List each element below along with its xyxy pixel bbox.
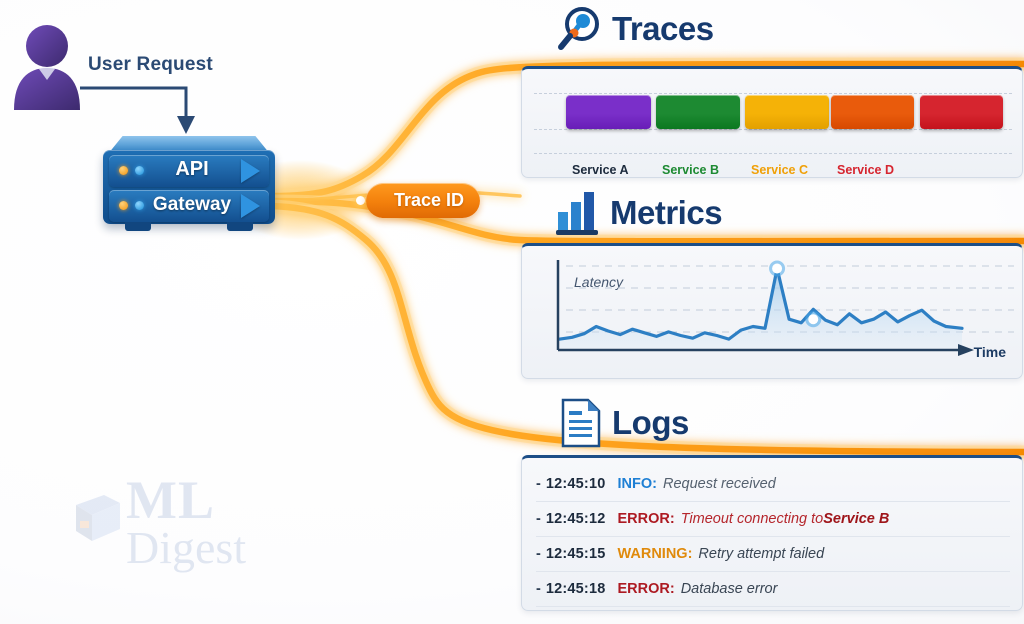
metrics-panel: Latency Time (521, 243, 1023, 379)
watermark-ml-digest: ML Digest (70, 462, 310, 582)
gateway-label-line1: API (103, 152, 275, 187)
gateway-foot (227, 222, 253, 231)
log-entry-row[interactable]: -12:45:15WARNING:Retry attempt failed (536, 536, 1010, 572)
chart-area-fill (560, 269, 962, 351)
log-level-badge: ERROR: (618, 581, 675, 597)
trace-span-label: Service D (837, 163, 894, 177)
log-entry-row[interactable]: -12:45:10INFO:Request received (536, 466, 1010, 502)
traces-section-header: Traces (556, 6, 714, 52)
request-arrow-icon (78, 60, 208, 140)
api-gateway-node[interactable]: API Gateway (103, 136, 275, 232)
log-dash: - (536, 546, 541, 562)
trace-id-label: Trace ID (382, 190, 464, 211)
recovery-marker (808, 314, 818, 324)
trace-span-bar (566, 95, 651, 129)
diagram-canvas: ML Digest (0, 0, 1024, 624)
gateway-label-line2: Gateway (103, 187, 275, 222)
logs-panel: -12:45:10INFO:Request received-12:45:12E… (521, 455, 1023, 611)
latency-line-chart (522, 246, 1022, 378)
traces-panel: Service AService BService CService D (521, 66, 1023, 178)
log-dash: - (536, 581, 541, 597)
traces-title: Traces (612, 10, 714, 48)
trace-span-bar (745, 95, 829, 129)
book-icon (70, 491, 126, 553)
log-entry-row[interactable]: -12:45:12ERROR:Timeout connecting to Ser… (536, 501, 1010, 537)
trace-span-label: Service B (662, 163, 719, 177)
log-level-badge: INFO: (618, 476, 657, 492)
log-message-emphasis: Service B (823, 511, 889, 527)
trace-span-label: Service A (572, 163, 629, 177)
trace-gridline (534, 153, 1012, 154)
trace-span-bar (656, 95, 740, 129)
document-lines-icon (560, 398, 602, 448)
trace-gridline (534, 93, 1012, 94)
trace-span-bar (920, 95, 1003, 129)
watermark-line2: Digest (126, 526, 246, 570)
x-axis-arrow-icon (958, 344, 974, 356)
log-timestamp: 12:45:15 (546, 546, 606, 562)
log-message: Request received (663, 476, 776, 492)
trace-id-connector-dot (356, 196, 365, 205)
logs-title: Logs (612, 404, 689, 442)
log-message: Timeout connecting to (681, 511, 824, 527)
log-message: Retry attempt failed (698, 546, 824, 562)
metrics-title: Metrics (610, 194, 722, 232)
bar-chart-icon (556, 190, 600, 236)
metrics-section-header: Metrics (556, 190, 722, 236)
log-level-badge: ERROR: (618, 511, 675, 527)
trace-span-bar (831, 95, 914, 129)
watermark-line1: ML (126, 475, 246, 526)
user-avatar-icon (8, 22, 86, 110)
spike-peak-marker (772, 264, 782, 274)
logs-section-header: Logs (560, 398, 689, 448)
log-dash: - (536, 476, 541, 492)
trace-span-label: Service C (751, 163, 808, 177)
log-timestamp: 12:45:18 (546, 581, 606, 597)
trace-id-badge[interactable]: Trace ID (366, 183, 480, 218)
log-level-badge: WARNING: (618, 546, 693, 562)
log-dash: - (536, 511, 541, 527)
trace-gridline (534, 129, 1012, 130)
log-entry-row[interactable]: -12:45:18ERROR:Database error (536, 571, 1010, 607)
log-timestamp: 12:45:10 (546, 476, 606, 492)
watermark-text: ML Digest (126, 475, 246, 570)
gateway-foot (125, 222, 151, 231)
magnifier-icon (556, 6, 602, 52)
log-timestamp: 12:45:12 (546, 511, 606, 527)
metrics-x-axis-label: Time (974, 344, 1006, 360)
log-message: Database error (681, 581, 778, 597)
